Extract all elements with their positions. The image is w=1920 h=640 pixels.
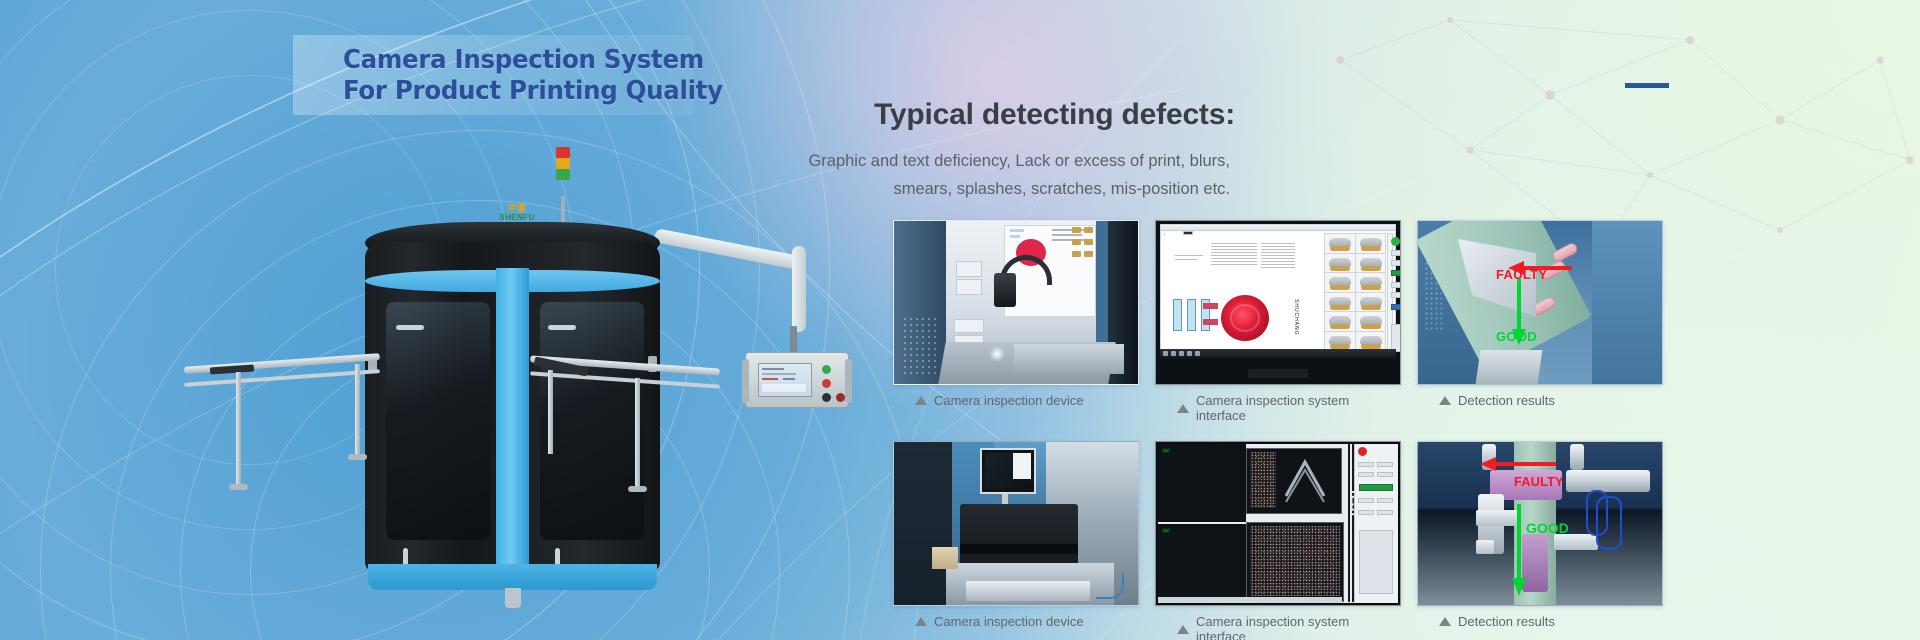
- gallery-caption: Camera inspection device: [893, 393, 1139, 408]
- conveyor-leg-2: [355, 364, 360, 456]
- caption-text: Detection results: [1458, 393, 1555, 408]
- description-line-2: smears, splashes, scratches, mis-positio…: [760, 175, 1230, 203]
- faulty-arrow-icon: [1480, 456, 1558, 472]
- page-title: Camera Inspection System For Product Pri…: [343, 45, 747, 107]
- thumbnail-image-reject-arm[interactable]: FAULTY GOOD: [1417, 441, 1663, 606]
- hmi-bracket-right: [845, 359, 852, 403]
- section-heading: Typical detecting defects:: [874, 98, 1235, 132]
- thumbnail-image-conveyor-sorting[interactable]: FAULTY GOOD: [1417, 220, 1663, 385]
- title-line-1: Camera Inspection System: [343, 45, 723, 76]
- hmi-button-emergency[interactable]: [836, 393, 845, 402]
- gallery-caption: Detection results: [1417, 614, 1663, 629]
- gallery-cell-camera-inspection-device-1[interactable]: Camera inspection device: [893, 220, 1139, 423]
- hmi-arm-horizontal: [654, 228, 802, 270]
- gallery-cell-system-interface-1[interactable]: ●●●●● SHUCHANG: [1155, 220, 1401, 423]
- conveyor-leg-4: [548, 370, 553, 454]
- gallery-caption: Camera inspection system interface: [1155, 393, 1401, 423]
- hmi-bracket-left: [742, 359, 749, 403]
- machine-foot: [505, 588, 521, 608]
- caption-text: Detection results: [1458, 614, 1555, 629]
- gallery-caption: Detection results: [1417, 393, 1663, 408]
- hmi-button-start[interactable]: [822, 365, 831, 374]
- caption-text: Camera inspection system interface: [1196, 614, 1401, 640]
- triangle-bullet-icon: [915, 396, 927, 405]
- hmi-arm-vertical: [792, 246, 806, 332]
- conveyor-foot-1: [229, 484, 248, 490]
- hmi-screen[interactable]: [758, 363, 812, 397]
- stack-light-icon: [556, 147, 570, 193]
- section-description: Graphic and text deficiency, Lack or exc…: [760, 147, 1230, 203]
- cabinet-window-left: [386, 302, 490, 540]
- gallery-caption: Camera inspection device: [893, 614, 1139, 629]
- gallery-row-2: Camera inspection device OK OK: [893, 441, 1663, 640]
- cabinet-base: [368, 564, 657, 590]
- gallery-cell-detection-results-1[interactable]: FAULTY GOOD Detection results: [1417, 220, 1663, 423]
- good-arrow-icon: [1510, 504, 1528, 596]
- title-line-2: For Product Printing Quality: [343, 76, 723, 107]
- conveyor-leg-3: [635, 378, 640, 488]
- hmi-control-panel[interactable]: [745, 352, 849, 408]
- thumbnail-image-dark-software-ui[interactable]: OK OK TEST: [1155, 441, 1401, 606]
- conveyor-foot-2: [348, 454, 367, 460]
- conveyor-leg-1: [236, 372, 241, 486]
- caption-text: Camera inspection device: [934, 393, 1084, 408]
- thumbnail-image-light-software-ui[interactable]: ●●●●● SHUCHANG: [1155, 220, 1401, 385]
- accent-bar: [1625, 83, 1669, 88]
- hmi-button-stop[interactable]: [822, 379, 831, 388]
- machine-illustration: 中富 SHENFU: [200, 150, 860, 610]
- conveyor-foot-3: [628, 486, 647, 492]
- chevron-shape-icon: [1282, 456, 1328, 504]
- cabinet-center-pillar: [496, 268, 529, 572]
- machine-brand-logo: 中富 SHENFU: [488, 204, 546, 224]
- gallery-cell-detection-results-2[interactable]: FAULTY GOOD Detection results: [1417, 441, 1663, 640]
- thumbnail-gallery: Camera inspection device ●●●●●: [893, 220, 1663, 640]
- hmi-button-mode[interactable]: [822, 393, 831, 402]
- triangle-bullet-icon: [1439, 617, 1451, 626]
- triangle-bullet-icon: [1177, 404, 1189, 413]
- faulty-label: FAULTY: [1514, 474, 1564, 489]
- door-handle-left[interactable]: [396, 325, 424, 330]
- triangle-bullet-icon: [915, 617, 927, 626]
- thumbnail-image-monitor-machine[interactable]: [893, 441, 1139, 606]
- description-line-1: Graphic and text deficiency, Lack or exc…: [760, 147, 1230, 175]
- good-label: GOOD: [1526, 520, 1569, 536]
- door-handle-right[interactable]: [548, 325, 576, 330]
- title-plate: Camera Inspection System For Product Pri…: [293, 35, 693, 115]
- gallery-row-1: Camera inspection device ●●●●●: [893, 220, 1663, 423]
- cabinet-window-right: [540, 302, 644, 540]
- good-label: GOOD: [1496, 329, 1537, 344]
- triangle-bullet-icon: [1177, 625, 1189, 634]
- thumbnail-image-machine-interior[interactable]: [893, 220, 1139, 385]
- triangle-bullet-icon: [1439, 396, 1451, 405]
- gallery-caption: Camera inspection system interface: [1155, 614, 1401, 640]
- banner-stage: Camera Inspection System For Product Pri…: [0, 0, 1920, 640]
- gallery-cell-camera-inspection-device-2[interactable]: Camera inspection device: [893, 441, 1139, 640]
- caption-text: Camera inspection device: [934, 614, 1084, 629]
- gallery-cell-system-interface-2[interactable]: OK OK TEST: [1155, 441, 1401, 640]
- caption-text: Camera inspection system interface: [1196, 393, 1401, 423]
